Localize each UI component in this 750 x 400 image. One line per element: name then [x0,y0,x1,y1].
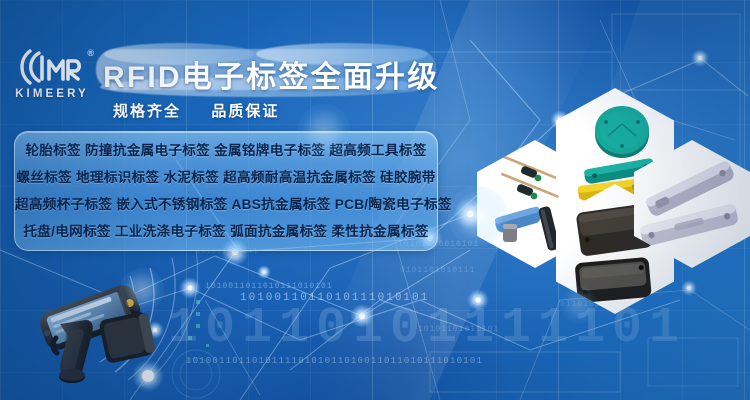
binary-text-medium: 1010011011010111010101 [240,292,429,304]
subtitle-left: 规格齐全 [113,103,181,120]
handheld-rfid-reader [28,276,168,388]
binary-text-small-5: 10101101011101 [418,325,499,334]
tag-row: 托盘/电网标签 工业洗涤电子标签 弧面抗金属标签 柔性抗金属标签 [15,218,437,245]
brand-logo: ® KIMEERY [8,47,96,109]
tag-row: 轮胎标签 防撞抗金属电子标签 金属铭牌电子标签 超高频工具标签 [15,137,437,164]
binary-text-small-2: 1010011011010111101010110100110110101110… [186,356,483,366]
subtitle: 规格齐全 品质保证 [113,100,279,121]
binary-text-small-4: 0101101010111 [400,266,475,275]
subtitle-right: 品质保证 [211,103,279,120]
page-title: RFID电子标签全面升级 [103,52,439,96]
handheld-rfid-reader-image [28,276,168,388]
tag-row: 螺丝标签 地理标识标签 水泥标签 超高频耐高温抗金属标签 硅胶腕带 [15,164,437,191]
binary-text-small-1: 1010011011010111010101 [205,282,333,291]
tag-row: 超高频杯子标签 嵌入式不锈钢标签 ABS抗金属标签 PCB/陶瓷电子标签 [15,191,437,218]
logo-mark: ® [8,47,96,87]
registered-trademark-icon: ® [87,48,94,58]
logo-wordmark: KIMEERY [8,88,96,100]
rfid-promo-banner: 10110101111101 1010011011010111010101 10… [0,0,750,400]
product-tag-list-panel: 轮胎标签 防撞抗金属电子标签 金属铭牌电子标签 超高频工具标签 螺丝标签 地理标… [14,131,438,251]
